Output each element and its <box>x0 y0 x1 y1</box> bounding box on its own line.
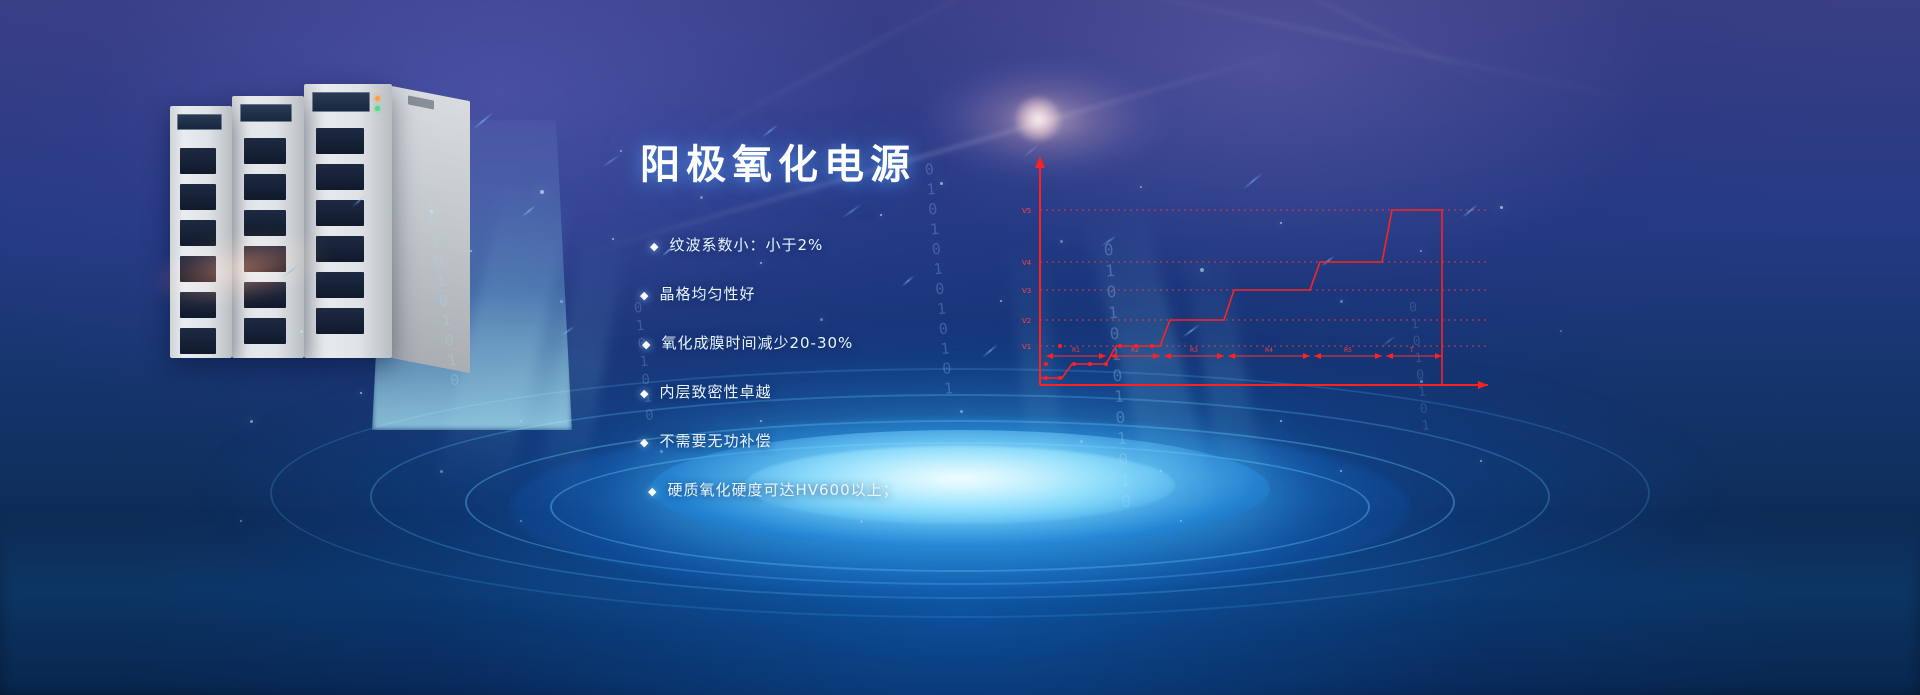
data-point <box>1150 344 1154 348</box>
segment-label: R5 <box>1344 347 1352 354</box>
dimension-arrow <box>1228 353 1235 359</box>
lens-flare-core <box>1012 96 1064 142</box>
data-point <box>1118 344 1122 348</box>
cabinet-display-screen <box>312 92 370 112</box>
light-streak <box>1225 0 1496 88</box>
feature-bullet-label: 不需要无功补偿 <box>659 430 771 451</box>
dimension-arrow <box>1046 353 1053 359</box>
data-point <box>1072 362 1076 366</box>
banner-stage: 01010101010 0101010 010101010101 0101010… <box>0 0 1920 695</box>
feature-bullet-label: 氧化成膜时间减少20-30% <box>661 332 853 353</box>
cabinet-door <box>180 184 216 210</box>
dimension-arrow <box>1153 353 1160 359</box>
dimension-arrow <box>1375 353 1382 359</box>
data-point <box>1044 376 1048 380</box>
feature-bullet-label: 晶格均匀性好 <box>659 283 755 304</box>
dimension-arrow <box>1303 353 1310 359</box>
segment-label: R3 <box>1190 347 1198 354</box>
y-axis-arrow <box>1035 156 1045 168</box>
cabinet-door <box>316 308 364 334</box>
diagram-gridlines <box>1040 210 1488 346</box>
dimension-arrow <box>1435 353 1442 359</box>
staircase-waveform <box>1040 210 1442 385</box>
cabinet-door <box>244 138 286 164</box>
power-cabinet-group <box>170 84 480 384</box>
cabinet-door <box>244 318 286 344</box>
feature-bullet-label: 硬质氧化硬度可达HV600以上； <box>667 479 898 500</box>
cabinet-side-panel <box>392 86 470 373</box>
diamond-bullet-icon: ◆ <box>640 291 649 302</box>
diamond-bullet-icon: ◆ <box>648 487 657 498</box>
diamond-bullet-icon: ◆ <box>640 438 649 449</box>
dimension-arrow <box>1386 353 1393 359</box>
light-dash <box>601 154 620 168</box>
cabinet-door <box>316 164 364 190</box>
diamond-bullet-icon: ◆ <box>650 242 659 253</box>
light-particle <box>620 150 622 152</box>
dimension-arrow <box>1217 353 1224 359</box>
diagram-axis-labels: V5V4V3V2V1 <box>1022 207 1032 351</box>
data-point <box>1058 376 1062 380</box>
segment-label: R2 <box>1131 347 1139 354</box>
data-point <box>1044 362 1048 366</box>
cabinet-indicator-lamp <box>375 106 380 111</box>
cabinet-door <box>244 174 286 200</box>
waveform-svg: V5V4V3V2V1 R1R2R3R4R5T <box>1010 150 1510 400</box>
cabinet-display-screen <box>177 114 222 130</box>
light-dash <box>762 124 779 138</box>
feature-bullet-label: 内层致密性卓越 <box>659 381 771 402</box>
cabinet-door <box>180 148 216 174</box>
voltage-axis-label: V1 <box>1022 343 1031 351</box>
cabinet-door <box>180 328 216 354</box>
data-point <box>1104 362 1108 366</box>
dimension-arrow <box>1314 353 1321 359</box>
waveform-diagram: V5V4V3V2V1 R1R2R3R4R5T <box>1010 150 1510 400</box>
light-streak <box>1086 0 1634 100</box>
segment-label: R4 <box>1265 347 1273 354</box>
voltage-axis-label: V2 <box>1022 317 1031 325</box>
feature-bullet: ◆不需要无功补偿 <box>640 430 1180 451</box>
cabinet-indicator-lamp <box>375 96 380 101</box>
x-axis-arrow <box>1478 381 1488 389</box>
dimension-arrow <box>1164 353 1171 359</box>
feature-bullet-label: 纹波系数小：小于2% <box>669 234 823 255</box>
data-point <box>1088 362 1092 366</box>
voltage-axis-label: V3 <box>1022 287 1031 295</box>
floor-sheen <box>0 515 1920 695</box>
voltage-axis-label: V4 <box>1022 259 1032 267</box>
dimension-arrow <box>1099 353 1106 359</box>
data-point <box>1058 344 1062 348</box>
voltage-axis-label: V5 <box>1022 207 1031 215</box>
data-point <box>1134 344 1138 348</box>
diagram-dimension-markers: R1R2R3R4R5T <box>1046 347 1442 359</box>
light-particle <box>612 238 614 240</box>
feature-bullet: ◆硬质氧化硬度可达HV600以上； <box>648 479 1180 500</box>
diamond-bullet-icon: ◆ <box>642 340 651 351</box>
diamond-bullet-icon: ◆ <box>640 389 649 400</box>
segment-label: T <box>1409 347 1414 354</box>
segment-label: R1 <box>1072 347 1080 354</box>
light-streak <box>664 0 1036 155</box>
cabinet-door <box>316 128 364 154</box>
cabinet-display-screen <box>240 104 292 122</box>
